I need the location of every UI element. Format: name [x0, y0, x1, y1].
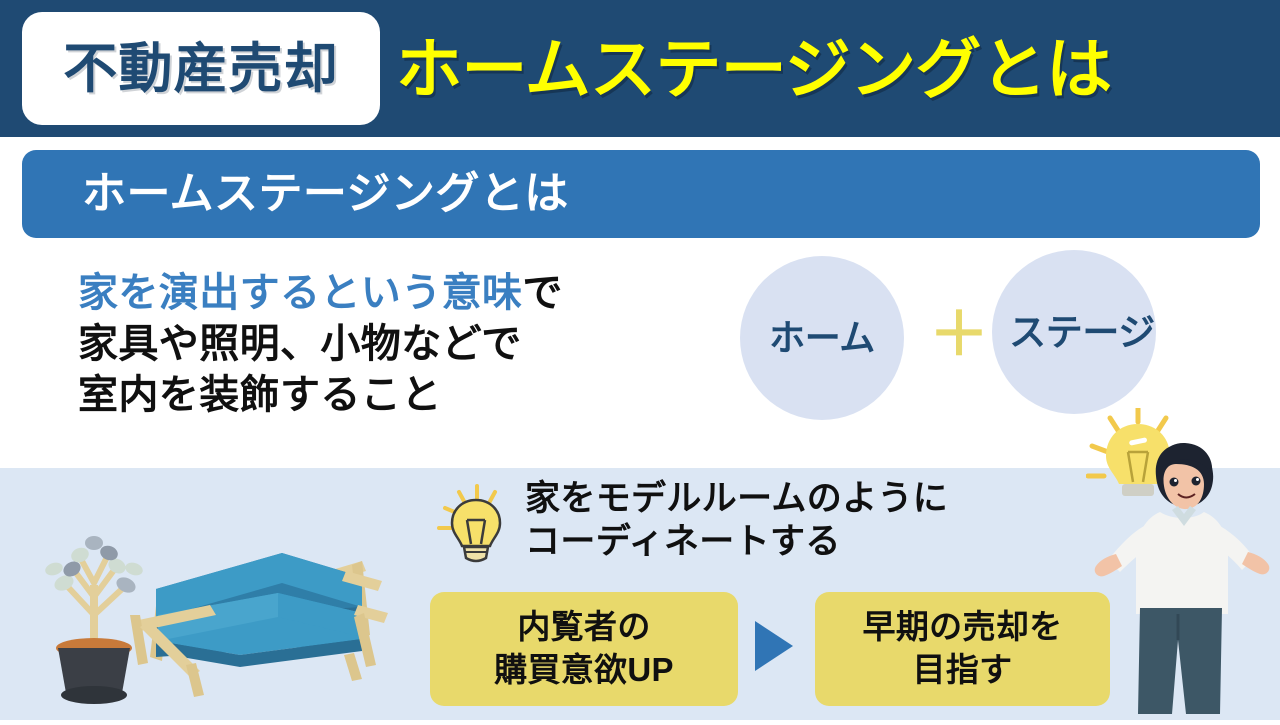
sofa-icon — [130, 553, 388, 697]
outcome-box-2-line-2: 目指す — [913, 649, 1013, 692]
tagline-block: 家をモデルルームのように コーディネートする — [437, 480, 977, 580]
definition-line-1: 家を演出するという意味で — [78, 268, 698, 319]
plant-icon — [44, 536, 145, 704]
section-banner-label: ホームステージングとは — [82, 172, 569, 216]
word-circle-stage-label: ステージ — [1009, 314, 1155, 351]
triangle-right-icon — [755, 621, 793, 671]
sofa-and-plant-illustration — [10, 465, 430, 720]
definition-text: 家を演出するという意味で 家具や照明、小物などで 室内を装飾すること — [78, 268, 698, 422]
outcome-box-early-sale: 早期の売却を 目指す — [815, 592, 1110, 706]
tagline-text: 家をモデルルームのように コーディネートする — [525, 478, 948, 563]
outcome-box-1-line-2: 購買意欲UP — [494, 649, 674, 692]
word-circle-stage: ステージ — [992, 250, 1156, 414]
person-presenting-illustration — [1086, 408, 1280, 720]
word-formula: ホーム ＋ ステージ — [736, 250, 1196, 430]
section-banner: ホームステージングとは — [22, 150, 1260, 238]
header-bar: 不動産売却 ホームステージングとは — [0, 0, 1280, 137]
outcome-box-buyer-interest: 内覧者の 購買意欲UP — [430, 592, 738, 706]
definition-line-3: 室内を装飾すること — [78, 370, 698, 421]
tagline-line-2: コーディネートする — [525, 521, 948, 564]
header-badge-label: 不動産売却 — [63, 42, 338, 96]
definition-line-1-tail: で — [522, 271, 562, 315]
definition-highlight: 家を演出するという意味 — [78, 271, 522, 315]
word-circle-home-label: ホーム — [769, 320, 875, 356]
lightbulb-icon — [437, 482, 515, 570]
word-circle-home: ホーム — [740, 256, 904, 420]
page-title: ホームステージングとは — [396, 0, 1111, 137]
infographic-slide: 不動産売却 ホームステージングとは ホームステージングとは 家を演出するという意… — [0, 0, 1280, 720]
header-badge: 不動産売却 — [22, 12, 380, 125]
tagline-line-1: 家をモデルルームのように — [525, 478, 948, 521]
outcome-box-1-line-1: 内覧者の — [517, 606, 650, 649]
definition-line-2: 家具や照明、小物などで — [78, 319, 698, 370]
plus-icon: ＋ — [932, 308, 986, 362]
outcome-box-2-line-1: 早期の売却を — [863, 606, 1063, 649]
